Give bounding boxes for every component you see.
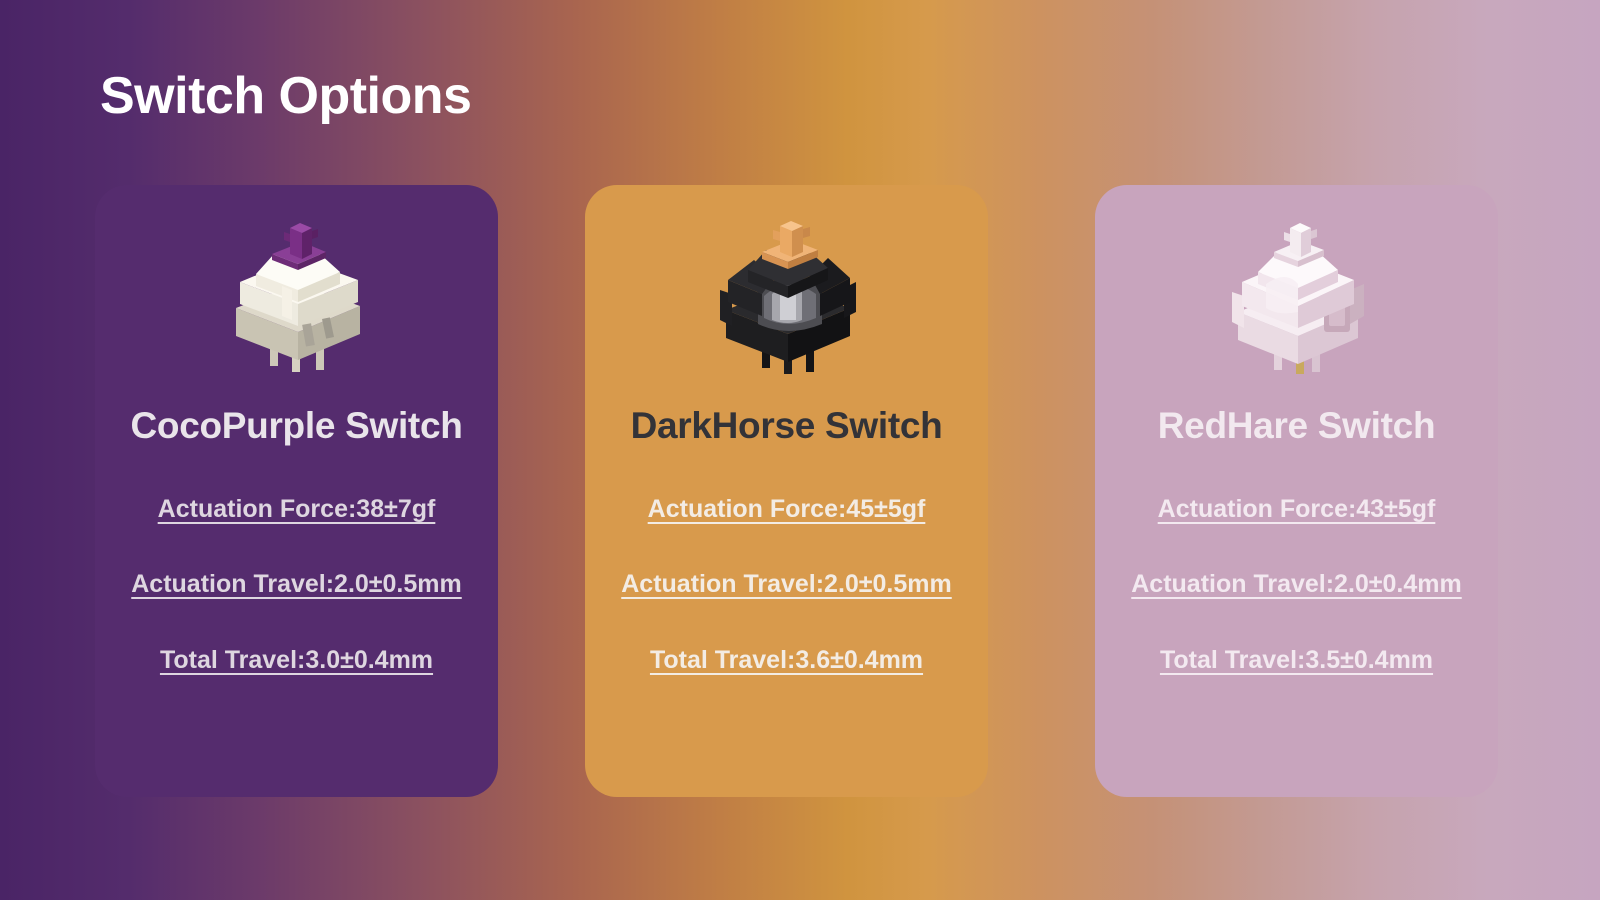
switch-image-darkhorse <box>585 185 988 380</box>
page-title: Switch Options <box>100 66 471 126</box>
switch-card-title: DarkHorse Switch <box>585 407 988 444</box>
switch-card-cocopurple[interactable]: CocoPurple Switch Actuation Force:38±7gf… <box>95 185 498 797</box>
mechanical-switch-white-pink-translucent-icon <box>1212 220 1382 380</box>
spec-actuation-force: Actuation Force:38±7gf <box>158 496 436 522</box>
switch-image-cocopurple <box>95 185 498 380</box>
spec-actuation-force: Actuation Force:43±5gf <box>1158 496 1436 522</box>
switch-card-redhare[interactable]: RedHare Switch Actuation Force:43±5gf Ac… <box>1095 185 1498 797</box>
mechanical-switch-white-purple-stem-icon <box>212 220 382 380</box>
spec-actuation-travel: Actuation Travel:2.0±0.5mm <box>131 571 462 597</box>
switch-card-title: CocoPurple Switch <box>95 407 498 444</box>
switch-spec-list: Actuation Force:38±7gf Actuation Travel:… <box>95 496 498 673</box>
spec-total-travel: Total Travel:3.5±0.4mm <box>1160 647 1433 673</box>
switch-card-darkhorse[interactable]: DarkHorse Switch Actuation Force:45±5gf … <box>585 185 988 797</box>
switch-image-redhare <box>1095 185 1498 380</box>
switch-spec-list: Actuation Force:43±5gf Actuation Travel:… <box>1095 496 1498 673</box>
spec-total-travel: Total Travel:3.6±0.4mm <box>650 647 923 673</box>
switch-options-card-list: CocoPurple Switch Actuation Force:38±7gf… <box>0 185 1600 797</box>
spec-actuation-travel: Actuation Travel:2.0±0.4mm <box>1131 571 1462 597</box>
spec-total-travel: Total Travel:3.0±0.4mm <box>160 647 433 673</box>
spec-actuation-force: Actuation Force:45±5gf <box>648 496 926 522</box>
spec-actuation-travel: Actuation Travel:2.0±0.5mm <box>621 571 952 597</box>
switch-card-title: RedHare Switch <box>1095 407 1498 444</box>
switch-spec-list: Actuation Force:45±5gf Actuation Travel:… <box>585 496 988 673</box>
mechanical-switch-black-orange-stem-icon <box>702 220 872 380</box>
